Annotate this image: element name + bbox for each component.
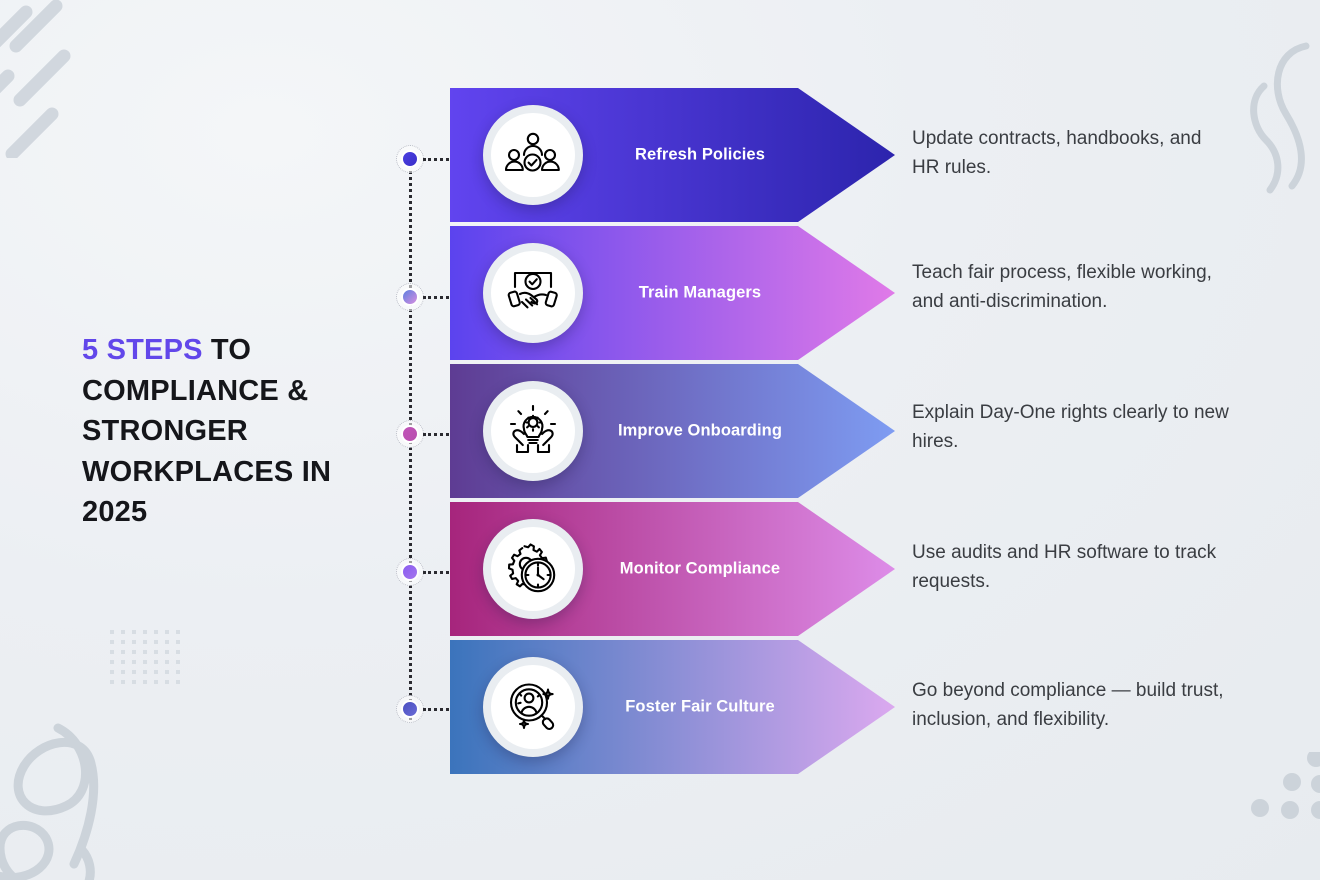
timeline-node-dot (401, 288, 419, 306)
hands-lightbulb-gear-icon (491, 389, 575, 473)
step-description-2: Teach fair process, flexible working, an… (912, 258, 1234, 316)
timeline-node-dot (401, 700, 419, 718)
timeline-node-4[interactable] (401, 563, 419, 581)
step-band-3[interactable]: Improve Onboarding (450, 364, 895, 498)
square-dot-grid-decoration (110, 630, 182, 686)
timeline-node-dot (401, 150, 419, 168)
step-icon-badge (483, 657, 583, 757)
step-label: Train Managers (600, 283, 800, 304)
step-icon-badge (483, 105, 583, 205)
infographic-canvas: 5 STEPS TO COMPLIANCE & STRONGER WORKPLA… (0, 0, 1320, 880)
step-descriptions: Update contracts, handbooks, and HR rule… (912, 88, 1242, 776)
loops-swirl-decoration (0, 700, 180, 880)
timeline-node-1[interactable] (401, 150, 419, 168)
timeline-rail (401, 88, 419, 783)
timeline-node-3[interactable] (401, 425, 419, 443)
step-band-5[interactable]: Foster Fair Culture (450, 640, 895, 774)
step-band-1[interactable]: Refresh Policies (450, 88, 895, 222)
magnifier-person-sparkle-icon (491, 665, 575, 749)
step-description-5: Go beyond compliance — build trust, incl… (912, 676, 1234, 734)
page-title: 5 STEPS TO COMPLIANCE & STRONGER WORKPLA… (82, 330, 382, 533)
page-title-accent: 5 STEPS (82, 334, 203, 366)
step-label: Improve Onboarding (600, 421, 800, 442)
step-band-2[interactable]: Train Managers (450, 226, 895, 360)
steps-arrow-list: Refresh Policies Train Ma (450, 88, 895, 776)
step-icon-badge (483, 243, 583, 343)
people-group-check-icon (491, 113, 575, 197)
step-icon-badge (483, 381, 583, 481)
diagonal-dashes-decoration (0, 0, 172, 158)
timeline-node-dot (401, 425, 419, 443)
timeline-node-2[interactable] (401, 288, 419, 306)
timeline-node-5[interactable] (401, 700, 419, 718)
timeline-node-dot (401, 563, 419, 581)
step-band-4[interactable]: Monitor Compliance (450, 502, 895, 636)
ribbon-curves-decoration (1248, 42, 1320, 202)
step-label: Refresh Policies (600, 145, 800, 166)
circle-dots-decoration (1248, 752, 1320, 824)
page-title-text: 5 STEPS TO COMPLIANCE & STRONGER WORKPLA… (82, 330, 382, 533)
gear-clock-icon (491, 527, 575, 611)
step-description-3: Explain Day-One rights clearly to new hi… (912, 398, 1234, 456)
step-icon-badge (483, 519, 583, 619)
handshake-check-icon (491, 251, 575, 335)
step-label: Foster Fair Culture (600, 697, 800, 718)
step-description-4: Use audits and HR software to track requ… (912, 538, 1234, 596)
step-description-1: Update contracts, handbooks, and HR rule… (912, 124, 1234, 182)
step-label: Monitor Compliance (600, 559, 800, 580)
